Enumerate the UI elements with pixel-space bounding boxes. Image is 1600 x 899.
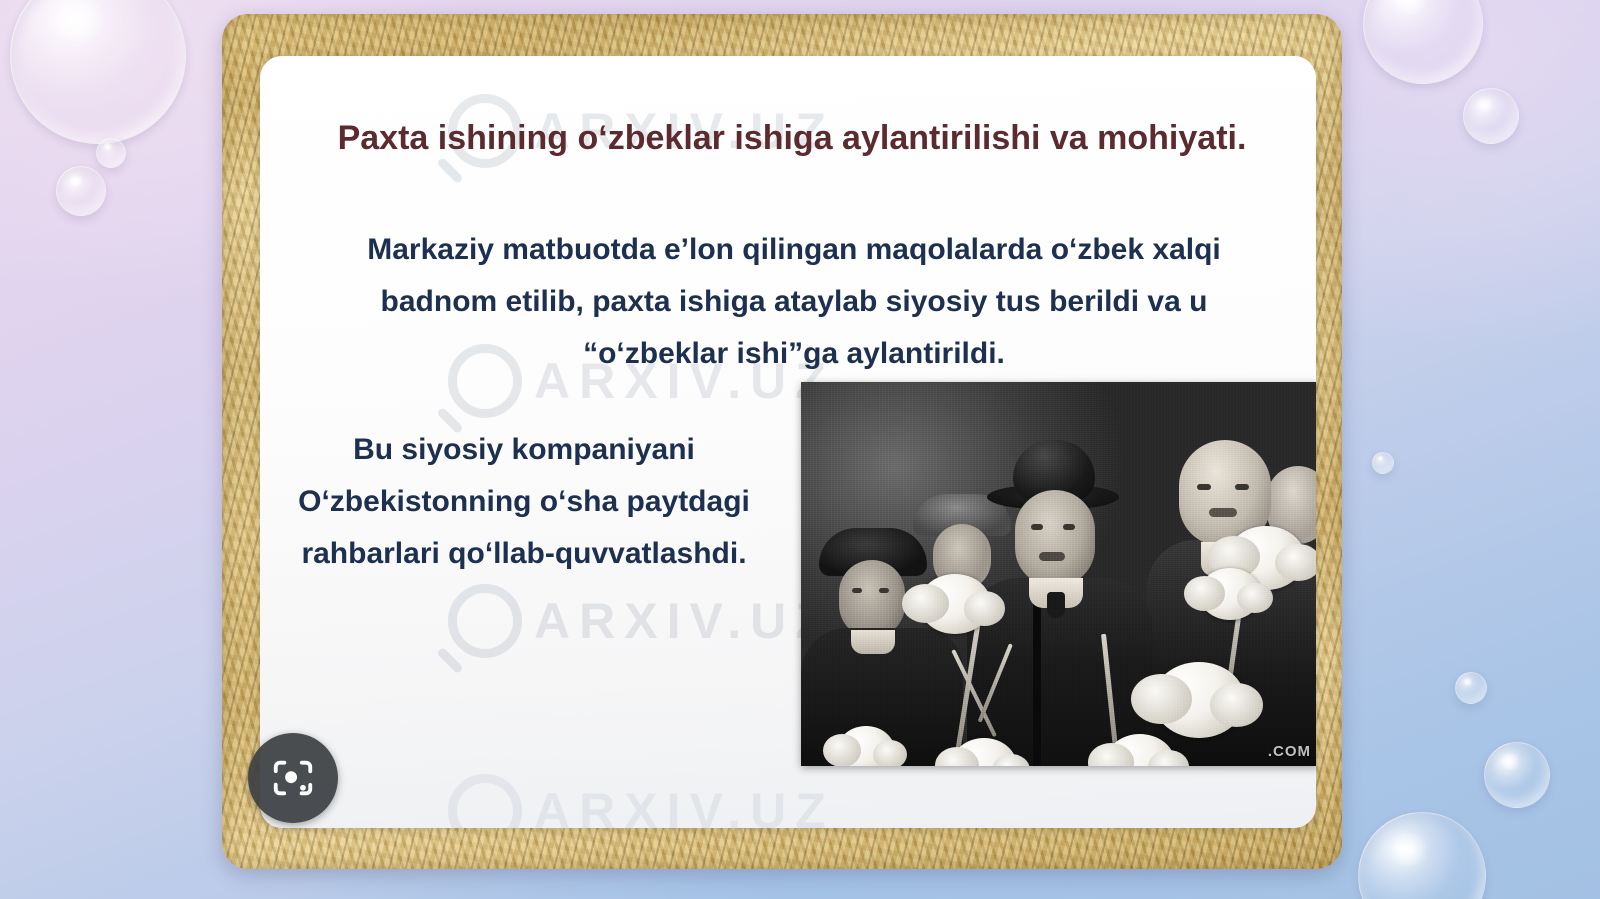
figure-right-head <box>1179 440 1271 546</box>
cotton-boll <box>919 574 991 634</box>
watermark-text: ARXIV.UZ <box>534 592 835 650</box>
cotton-boll <box>1153 662 1245 738</box>
cotton-boll <box>837 726 895 766</box>
watermark-arxiv-bottom: ARXIV.UZ <box>448 774 835 828</box>
figure-center-tie <box>1047 592 1065 618</box>
water-drop-bubble <box>10 0 186 144</box>
slide-card: ARXIV.UZ ARXIV.UZ ARXIV.UZ ARXIV.UZ Paxt… <box>260 56 1316 828</box>
photo-background <box>801 382 1316 766</box>
photo-grain <box>801 382 1316 766</box>
figure-midleft-hat <box>913 494 1011 536</box>
figure-left-hat <box>819 528 927 576</box>
slide-frame: ARXIV.UZ ARXIV.UZ ARXIV.UZ ARXIV.UZ Paxt… <box>222 14 1342 869</box>
photo-watermark: .COM <box>1268 743 1311 760</box>
slide-title: Paxta ishining o‘zbeklar ishiga aylantir… <box>302 118 1282 158</box>
figure-center-face <box>1015 490 1095 586</box>
cotton-stem <box>1223 596 1244 714</box>
cotton-stem <box>1101 634 1119 754</box>
cotton-boll <box>1199 568 1261 620</box>
magnifier-icon <box>448 94 522 168</box>
cotton-boll <box>1105 734 1175 766</box>
figure-left-collar <box>851 630 895 654</box>
cotton-boll <box>1227 526 1305 590</box>
watermark-arxiv-low: ARXIV.UZ <box>448 584 835 658</box>
figure-left-coat <box>801 628 963 766</box>
watermark-text: ARXIV.UZ <box>534 782 835 828</box>
water-drop-bubble <box>56 166 106 216</box>
screenshot-viewport: ARXIV.UZ ARXIV.UZ ARXIV.UZ ARXIV.UZ Paxt… <box>0 0 1600 899</box>
figure-center-hat-crown <box>1013 440 1095 502</box>
watermark-arxiv-mid: ARXIV.UZ <box>448 344 835 418</box>
cotton-stem <box>978 643 1013 722</box>
figure-midleft-face <box>933 524 991 590</box>
magnifier-icon <box>448 774 522 828</box>
figure-center-mouth <box>1039 552 1065 561</box>
water-drop-bubble <box>1363 0 1483 84</box>
lens-camera-icon <box>270 755 316 801</box>
water-drop-bubble <box>1463 88 1519 144</box>
historic-photo: .COM <box>801 382 1316 766</box>
cotton-stem <box>954 614 982 763</box>
figure-center-hat-brim <box>987 484 1119 510</box>
watermark-arxiv-top: ARXIV.UZ <box>448 94 835 168</box>
water-drop-bubble <box>1484 742 1550 808</box>
cotton-stem <box>951 649 997 737</box>
slide-paragraph-support: Bu siyosiy kompaniyani O‘zbekistonning o… <box>284 424 764 581</box>
slide-paragraph-intro: Markaziy matbuotda e’lon qilingan maqola… <box>338 224 1250 381</box>
figure-right-shirt <box>1201 542 1249 576</box>
magnifier-icon <box>448 344 522 418</box>
google-lens-button[interactable] <box>248 733 338 823</box>
figure-right-coat <box>1147 540 1316 766</box>
magnifier-icon <box>448 584 522 658</box>
figure-left-face <box>839 560 905 638</box>
water-drop-bubble <box>1455 672 1487 704</box>
figure-farright-head <box>1267 466 1316 544</box>
water-drop-bubble <box>1358 812 1486 899</box>
cotton-boll <box>951 738 1017 766</box>
figure-right-mouth <box>1209 508 1237 517</box>
watermark-text: ARXIV.UZ <box>534 352 835 410</box>
water-drop-bubble <box>96 138 126 168</box>
figure-center-collar <box>1029 578 1083 608</box>
water-drop-bubble <box>1372 452 1394 474</box>
watermark-text: ARXIV.UZ <box>534 102 835 160</box>
figure-center-coat <box>967 578 1153 766</box>
